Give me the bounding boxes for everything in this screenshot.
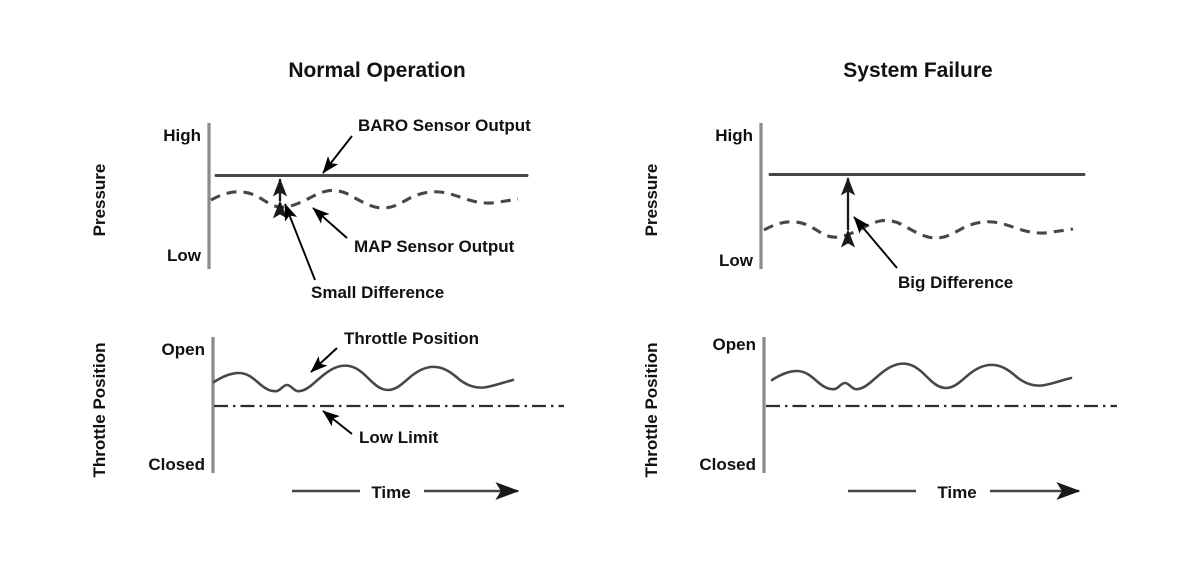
pressure-normal-axis-label: Pressure: [90, 164, 109, 237]
time-axis-failure: Time: [848, 483, 1079, 502]
throttle-position-trace-normal: [214, 366, 513, 392]
big-difference-leader: [854, 217, 897, 268]
panel-title-system-failure: System Failure: [843, 59, 992, 82]
pressure-failure-axis-label: Pressure: [642, 164, 661, 237]
pressure-normal-tick-high: High: [163, 126, 201, 145]
annotation-baro-sensor-output: BARO Sensor Output: [358, 116, 531, 135]
throttle-failure-tick-closed: Closed: [699, 455, 756, 474]
annotation-low-limit: Low Limit: [359, 428, 439, 447]
annotation-big-difference: Big Difference: [898, 273, 1013, 292]
annotation-throttle-position: Throttle Position: [344, 329, 479, 348]
throttle-failure-axis-label: Throttle Position: [642, 342, 661, 477]
chart-pressure-failure: Pressure High Low Big Difference: [642, 123, 1084, 292]
low-limit-leader: [323, 411, 352, 434]
pressure-failure-tick-high: High: [715, 126, 753, 145]
throttle-position-trace-failure: [772, 364, 1071, 390]
chart-throttle-failure: Throttle Position Open Closed Time: [642, 335, 1117, 502]
map-sensor-trace-normal: [211, 190, 518, 208]
panel-title-normal-operation: Normal Operation: [288, 59, 465, 82]
annotation-small-difference: Small Difference: [311, 283, 444, 302]
pressure-failure-tick-low: Low: [719, 251, 754, 270]
throttle-normal-axis-label: Throttle Position: [90, 342, 109, 477]
time-axis-normal: Time: [292, 483, 518, 502]
time-axis-label-normal: Time: [371, 483, 410, 502]
pressure-normal-tick-low: Low: [167, 246, 202, 265]
baro-sensor-output-leader: [323, 136, 352, 173]
chart-throttle-normal: Throttle Position Open Closed Throttle P…: [90, 329, 564, 502]
small-difference-leader: [285, 204, 315, 280]
throttle-failure-tick-open: Open: [713, 335, 756, 354]
annotation-map-sensor-output: MAP Sensor Output: [354, 237, 515, 256]
map-sensor-output-leader: [313, 208, 347, 238]
diagram-canvas: Normal Operation Pressure High Low BARO …: [0, 0, 1200, 579]
map-sensor-trace-failure: [764, 220, 1073, 238]
panel-system-failure: System Failure Pressure High Low Big Dif…: [642, 59, 1117, 502]
throttle-normal-tick-open: Open: [162, 340, 205, 359]
panel-normal-operation: Normal Operation Pressure High Low BARO …: [90, 59, 564, 502]
chart-pressure-normal: Pressure High Low BARO Sensor Output MAP…: [90, 116, 531, 302]
time-axis-label-failure: Time: [937, 483, 976, 502]
throttle-normal-tick-closed: Closed: [148, 455, 205, 474]
